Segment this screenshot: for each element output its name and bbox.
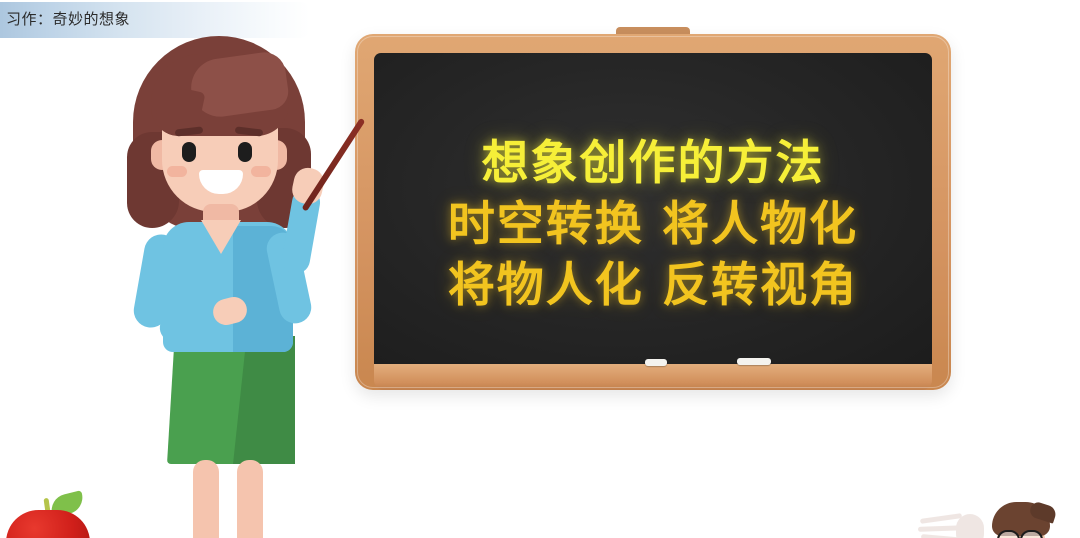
chalk-ledge	[374, 364, 932, 390]
blackboard-frame: 想象创作的方法 时空转换 将人物化 将物人化 反转视角	[355, 34, 951, 390]
teacher-illustration	[105, 36, 370, 538]
teacher-cheek-right	[251, 166, 271, 177]
blackboard-text-block: 想象创作的方法 时空转换 将人物化 将物人化 反转视角	[374, 133, 932, 316]
blackboard-line-3: 将物人化 反转视角	[374, 255, 932, 316]
blackboard-line-2: 时空转换 将人物化	[374, 194, 932, 255]
teacher-cheek-left	[167, 166, 187, 177]
chalk-piece	[645, 359, 667, 366]
chalk-piece	[737, 358, 771, 365]
teacher-leg-right	[237, 460, 263, 538]
page-title: 习作：奇妙的想象	[6, 10, 130, 30]
slide-canvas: 习作：奇妙的想象 想象创作的方法 时空转换 将人物化 将物人化 反转视角	[0, 0, 1080, 538]
teacher-eye-right	[238, 142, 252, 162]
blackboard-surface: 想象创作的方法 时空转换 将人物化 将物人化 反转视角	[374, 53, 932, 371]
waving-hand-decoration	[918, 510, 984, 538]
hand-palm	[956, 514, 984, 538]
apple-body-icon	[6, 510, 90, 538]
apple-decoration	[6, 492, 90, 538]
teacher-leg-left	[193, 460, 219, 538]
pointer-stick	[301, 118, 365, 212]
blackboard: 想象创作的方法 时空转换 将人物化 将物人化 反转视角	[355, 34, 951, 424]
boy-character-decoration	[984, 502, 1058, 538]
blackboard-line-1: 想象创作的方法	[374, 133, 932, 194]
hand-finger	[920, 513, 962, 524]
title-banner: 习作：奇妙的想象	[0, 2, 310, 38]
teacher-eye-left	[182, 142, 196, 162]
